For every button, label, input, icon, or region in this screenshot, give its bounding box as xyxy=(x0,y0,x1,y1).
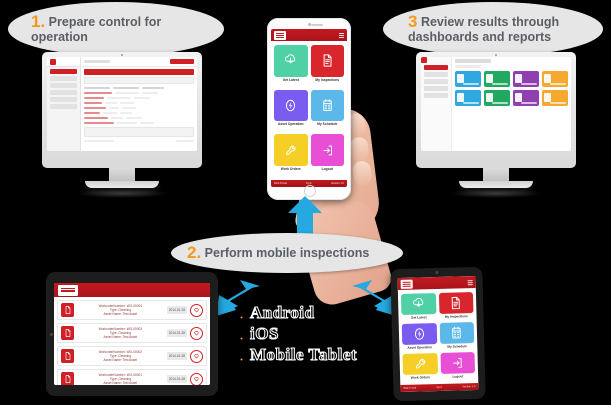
app-tile-label: My Schedule xyxy=(447,344,467,349)
platform-label: Android xyxy=(250,303,315,322)
sidebar-item[interactable] xyxy=(50,90,77,95)
step-2-label: Perform mobile inspections xyxy=(205,246,370,260)
table-row[interactable] xyxy=(84,121,194,125)
calendar-icon xyxy=(449,325,464,340)
table-row[interactable] xyxy=(84,106,194,110)
pagination[interactable] xyxy=(84,139,194,143)
work-order-details: WorkorderNumber: WO-00003Type: CleaningA… xyxy=(77,327,164,339)
app-tile-label: Asset Operation xyxy=(278,122,303,126)
sidebar-item[interactable] xyxy=(424,86,448,91)
app-tile-label: My Inspections xyxy=(315,78,339,82)
finger xyxy=(352,160,373,186)
logout-icon xyxy=(320,143,335,158)
app-tile-label: Work Orders xyxy=(281,167,301,171)
finger xyxy=(349,136,370,162)
lightning-bolt-icon xyxy=(412,326,427,341)
app-tile-my-schedule[interactable]: My Schedule xyxy=(311,90,345,132)
work-order-asset: Asset Name: Test Asset xyxy=(77,312,164,316)
primary-action-button[interactable] xyxy=(170,59,194,64)
app-logo xyxy=(421,57,451,63)
calendar-icon xyxy=(320,98,335,113)
dashboard-card[interactable] xyxy=(513,90,539,106)
footer-right-label: Version 1.0 xyxy=(331,182,344,185)
dashboard-card-label xyxy=(492,102,508,104)
callout-step-2-text: 2. Perform mobile inspections xyxy=(177,245,397,261)
dashboard-card[interactable] xyxy=(542,90,568,106)
breadcrumb xyxy=(84,60,110,63)
status-icon[interactable] xyxy=(190,304,203,317)
lightning-bolt-icon xyxy=(283,98,298,113)
dashboard-card[interactable] xyxy=(455,71,481,87)
app-tile-grid: Get LatestMy InspectionsAsset OperationM… xyxy=(398,288,478,385)
detail-panel xyxy=(84,127,194,137)
work-order-row[interactable]: WorkorderNumber: WO-00002Type: CleaningA… xyxy=(57,346,207,366)
sidebar-item[interactable] xyxy=(50,97,77,102)
dashboard-card-label xyxy=(521,83,537,85)
monitor-bezel xyxy=(42,52,202,168)
app-logo-icon xyxy=(274,31,286,40)
monitor-neck xyxy=(483,168,509,181)
wrench-icon xyxy=(283,143,298,158)
cloud-download-icon xyxy=(411,296,426,311)
app-footer-bar: Web Portal Sync Version 1.0 xyxy=(400,383,478,392)
monitor-foot xyxy=(85,181,159,188)
footer-left-label: Web Portal xyxy=(274,182,287,185)
sidebar-item[interactable] xyxy=(424,93,448,98)
document-icon xyxy=(63,351,73,361)
work-order-details: WorkorderNumber: WO-00004Type: CleaningA… xyxy=(77,304,164,316)
status-icon xyxy=(192,375,201,384)
section-header-bar xyxy=(84,69,194,75)
tablet-app-screen[interactable]: Get LatestMy InspectionsAsset OperationM… xyxy=(398,276,479,392)
work-order-date: 2014-01-28 xyxy=(167,375,187,383)
app-logo xyxy=(47,57,80,67)
document-list-icon xyxy=(320,53,335,68)
dashboard-card-label xyxy=(463,83,479,85)
app-tile-logout[interactable]: Logout xyxy=(311,134,345,176)
app-tile-label: Logout xyxy=(452,374,463,378)
platform-label: iOS xyxy=(250,324,279,343)
cloud-download-icon xyxy=(283,53,298,68)
page-title xyxy=(455,59,491,63)
table-row[interactable] xyxy=(84,96,194,100)
work-order-asset: Asset Name: Test Asset xyxy=(77,358,164,362)
work-order-date: 2014-01-28 xyxy=(167,329,187,337)
control-list-screen[interactable] xyxy=(47,57,197,151)
monitor-chin xyxy=(47,151,197,157)
work-order-row[interactable]: WorkorderNumber: WO-00004Type: CleaningA… xyxy=(57,300,207,320)
work-order-details: WorkorderNumber: WO-00002Type: CleaningA… xyxy=(77,350,164,362)
work-order-asset: Asset Name: Test Asset xyxy=(77,335,164,339)
status-icon xyxy=(192,352,201,361)
list-item: iOS xyxy=(250,324,402,343)
document-icon xyxy=(63,374,73,384)
app-header-bar xyxy=(54,283,210,297)
app-tile-icon-box xyxy=(438,292,473,313)
app-tile-icon-box xyxy=(311,45,345,77)
callout-step-2: 2. Perform mobile inspections xyxy=(171,233,403,273)
front-camera-icon xyxy=(50,333,53,336)
table-row[interactable] xyxy=(84,101,194,105)
wrench-icon xyxy=(412,356,427,371)
dashboard-card[interactable] xyxy=(513,71,539,87)
callout-step-3-text: 3 Review results through dashboards and … xyxy=(398,14,588,45)
dashboard-main xyxy=(452,57,571,151)
app-tile-asset-operation[interactable]: Asset Operation xyxy=(274,90,308,132)
callout-step-3: 3 Review results through dashboards and … xyxy=(383,2,603,56)
desktop-monitor-control xyxy=(42,52,202,198)
table-row[interactable] xyxy=(84,116,194,120)
document-icon xyxy=(61,303,74,317)
footer-center-label: Sync xyxy=(436,386,442,389)
app-tile-label: My Schedule xyxy=(317,122,337,126)
app-toolbar xyxy=(81,57,197,67)
list-item: Mobile Tablet xyxy=(250,345,402,364)
app-tile-label: Asset Operation xyxy=(407,345,432,350)
dashboard-card-label xyxy=(463,102,479,104)
logout-icon xyxy=(450,355,465,370)
earpiece-speaker xyxy=(311,24,323,26)
app-tile-work-orders[interactable]: Work Orders xyxy=(403,353,438,381)
app-tile-icon-box xyxy=(402,323,437,344)
app-tile-label: Get Latest xyxy=(283,78,299,82)
document-icon xyxy=(63,305,73,315)
step-1-number: 1. xyxy=(31,12,45,31)
front-camera-icon xyxy=(435,271,438,274)
company-logo-icon xyxy=(58,285,78,296)
desktop-monitor-dashboard xyxy=(416,52,576,198)
table-header-row xyxy=(84,86,194,90)
dashboard-card-label xyxy=(550,102,566,104)
status-icon xyxy=(192,306,201,315)
dashboard-card[interactable] xyxy=(484,71,510,87)
app-tile-icon-box xyxy=(440,352,475,373)
status-icon[interactable] xyxy=(190,327,203,340)
sidebar-item-active[interactable] xyxy=(424,65,448,70)
smartphone-device: Get LatestMy InspectionsAsset OperationM… xyxy=(267,18,351,200)
table-row[interactable] xyxy=(84,91,194,95)
document-icon xyxy=(61,326,74,340)
app-tile-get-latest[interactable]: Get Latest xyxy=(401,293,436,321)
sidebar-item[interactable] xyxy=(50,83,77,88)
app-tile-icon-box xyxy=(274,45,308,77)
search-input[interactable] xyxy=(84,77,194,84)
app-sidebar[interactable] xyxy=(47,57,81,151)
footer-right-label: Version 1.0 xyxy=(462,385,475,388)
platform-list: Android iOS Mobile Tablet xyxy=(232,303,402,366)
sidebar-item[interactable] xyxy=(50,76,77,81)
monitor-foot xyxy=(459,181,533,188)
tablet-work-order-list: WorkorderNumber: WO-00004Type: CleaningA… xyxy=(46,272,218,396)
document-list-icon xyxy=(448,295,463,310)
monitor-bezel xyxy=(416,52,576,168)
work-order-row[interactable]: WorkorderNumber: WO-00003Type: CleaningA… xyxy=(57,323,207,343)
dashboard-card-label xyxy=(492,83,508,85)
sidebar-item[interactable] xyxy=(424,79,448,84)
platform-label: Mobile Tablet xyxy=(250,345,357,364)
webcam-icon xyxy=(121,54,123,56)
phone-screen[interactable]: Get LatestMy InspectionsAsset OperationM… xyxy=(271,29,347,187)
work-order-date: 2014-01-28 xyxy=(167,306,187,314)
dashboard-card[interactable] xyxy=(542,71,568,87)
app-logo-icon xyxy=(401,279,413,288)
dashboard-card-label xyxy=(521,102,537,104)
document-icon xyxy=(61,349,74,363)
monitor-neck xyxy=(109,168,135,181)
status-icon xyxy=(192,329,201,338)
app-tile-my-inspections[interactable]: My Inspections xyxy=(311,45,345,87)
dashboard-card[interactable] xyxy=(484,90,510,106)
step-3-label: Review results through dashboards and re… xyxy=(408,15,559,44)
step-3-number: 3 xyxy=(408,12,417,31)
dashboard-card[interactable] xyxy=(455,90,481,106)
footer-left-label: Web Portal xyxy=(403,387,416,390)
document-icon xyxy=(63,328,73,338)
status-icon[interactable] xyxy=(190,350,203,363)
sidebar-item-active[interactable] xyxy=(50,69,77,74)
app-tile-logout[interactable]: Logout xyxy=(440,352,475,380)
document-icon xyxy=(61,372,74,385)
dashboard-screen[interactable] xyxy=(421,57,571,151)
work-order-row[interactable]: WorkorderNumber: WO-00001Type: CleaningA… xyxy=(57,369,207,385)
app-tile-icon-box xyxy=(311,90,345,122)
monitor-shadow xyxy=(76,189,168,198)
app-tile-my-schedule[interactable]: My Schedule xyxy=(439,322,474,350)
work-order-details: WorkorderNumber: WO-00001Type: CleaningA… xyxy=(77,373,164,385)
hamburger-icon[interactable] xyxy=(339,33,344,38)
dashboard-sidebar[interactable] xyxy=(421,57,452,151)
callout-step-1-text: 1. Prepare control for operation xyxy=(21,14,211,45)
work-order-asset: Asset Name: Test Asset xyxy=(77,381,164,385)
step-2-number: 2. xyxy=(187,243,201,262)
status-icon[interactable] xyxy=(190,373,203,386)
app-tile-icon-box xyxy=(439,322,474,343)
breadcrumb xyxy=(455,65,481,68)
app-tile-icon-box xyxy=(274,90,308,122)
table-row[interactable] xyxy=(84,111,194,115)
app-tile-label: Work Orders xyxy=(411,375,430,380)
app-tile-asset-operation[interactable]: Asset Operation xyxy=(402,323,437,351)
monitor-shadow xyxy=(450,189,542,198)
app-tile-label: My Inspections xyxy=(445,314,468,319)
step-1-label: Prepare control for operation xyxy=(31,15,161,44)
callout-step-1: 1. Prepare control for operation xyxy=(8,2,224,56)
app-tile-icon-box xyxy=(403,353,438,374)
app-tile-get-latest[interactable]: Get Latest xyxy=(274,45,308,87)
hamburger-icon[interactable] xyxy=(468,280,473,285)
sidebar-item[interactable] xyxy=(424,72,448,77)
app-tile-icon-box xyxy=(401,293,436,314)
tablet-app-menu: Get LatestMy InspectionsAsset OperationM… xyxy=(390,267,485,401)
app-tile-my-inspections[interactable]: My Inspections xyxy=(438,292,473,320)
infographic-canvas: 1. Prepare control for operation 3 Revie… xyxy=(0,0,611,405)
app-header-bar xyxy=(271,29,347,41)
app-tile-label: Logout xyxy=(322,167,333,171)
app-tile-label: Get Latest xyxy=(411,315,427,319)
work-order-list-screen[interactable]: WorkorderNumber: WO-00004Type: CleaningA… xyxy=(54,283,210,385)
list-item: Android xyxy=(250,303,402,322)
monitor-chin xyxy=(421,151,571,157)
app-main-panel xyxy=(81,57,197,151)
work-order-date: 2014-01-28 xyxy=(167,352,187,360)
app-tile-icon-box xyxy=(274,134,308,166)
app-tile-work-orders[interactable]: Work Orders xyxy=(274,134,308,176)
webcam-icon xyxy=(495,54,497,56)
sidebar-item[interactable] xyxy=(50,104,77,109)
app-tile-icon-box xyxy=(311,134,345,166)
dashboard-card-label xyxy=(550,83,566,85)
app-tile-grid: Get LatestMy InspectionsAsset OperationM… xyxy=(271,41,347,180)
dashboard-card-grid xyxy=(455,71,568,106)
work-order-rows: WorkorderNumber: WO-00004Type: CleaningA… xyxy=(54,297,210,385)
